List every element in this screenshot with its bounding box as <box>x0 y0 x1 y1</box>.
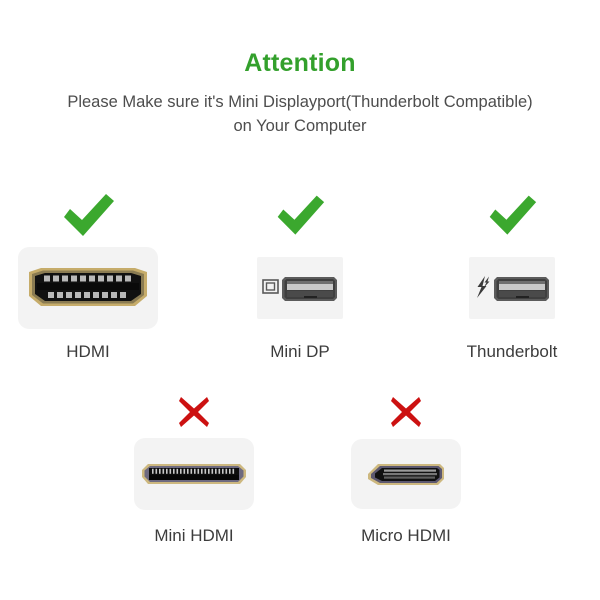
port-label-hdmi: HDMI <box>66 341 109 363</box>
green-check-icon <box>60 193 116 239</box>
subtitle-line-1: Please Make sure it's Mini Displayport(T… <box>0 90 600 114</box>
mini-hdmi-card <box>134 438 254 510</box>
thunderbolt-port-icon <box>472 268 552 308</box>
port-card-mini-hdmi: Mini HDMI <box>119 392 269 547</box>
mini-hdmi-card-wrap <box>134 432 254 516</box>
green-check-icon <box>486 194 538 238</box>
port-card-thunderbolt: Thunderbolt <box>437 190 587 363</box>
port-label-micro-hdmi: Micro HDMI <box>361 525 451 547</box>
hdmi-card <box>18 247 158 329</box>
red-cross-icon <box>177 395 211 429</box>
green-check-icon <box>274 194 326 238</box>
red-cross-icon <box>389 395 423 429</box>
page-subtitle: Please Make sure it's Mini Displayport(T… <box>0 90 600 138</box>
subtitle-line-2: on Your Computer <box>0 114 600 138</box>
check-mark-thunderbolt <box>486 190 538 242</box>
hdmi-port-icon <box>27 266 149 310</box>
port-label-mini-dp: Mini DP <box>270 341 330 363</box>
mini-dp-card <box>257 257 343 319</box>
unsupported-ports-row: Mini HDMI <box>0 392 600 547</box>
micro-hdmi-card <box>351 439 461 509</box>
thunderbolt-card-wrap <box>469 242 555 334</box>
thunderbolt-card <box>469 257 555 319</box>
mini-dp-card-wrap <box>257 242 343 334</box>
attention-notice-page: Attention Please Make sure it's Mini Dis… <box>0 0 600 600</box>
micro-hdmi-card-wrap <box>351 432 461 516</box>
hdmi-card-wrap <box>18 242 158 334</box>
port-card-mini-dp: Mini DP <box>225 190 375 363</box>
port-card-micro-hdmi: Micro HDMI <box>331 392 481 547</box>
display-monitor-icon <box>263 280 278 293</box>
mini-hdmi-port-icon <box>141 460 247 488</box>
port-card-hdmi: HDMI <box>13 190 163 363</box>
lightning-bolt-icon <box>477 276 490 298</box>
header: Attention Please Make sure it's Mini Dis… <box>0 48 600 138</box>
micro-hdmi-port-icon <box>366 459 446 489</box>
mini-dp-port-icon <box>260 268 340 308</box>
page-title: Attention <box>0 48 600 78</box>
cross-mark-mini-hdmi <box>177 392 211 432</box>
cross-mark-micro-hdmi <box>389 392 423 432</box>
port-label-thunderbolt: Thunderbolt <box>467 341 558 363</box>
port-label-mini-hdmi: Mini HDMI <box>154 525 233 547</box>
supported-ports-row: HDMI <box>0 190 600 363</box>
check-mark-mini-dp <box>274 190 326 242</box>
check-mark-hdmi <box>60 190 116 242</box>
